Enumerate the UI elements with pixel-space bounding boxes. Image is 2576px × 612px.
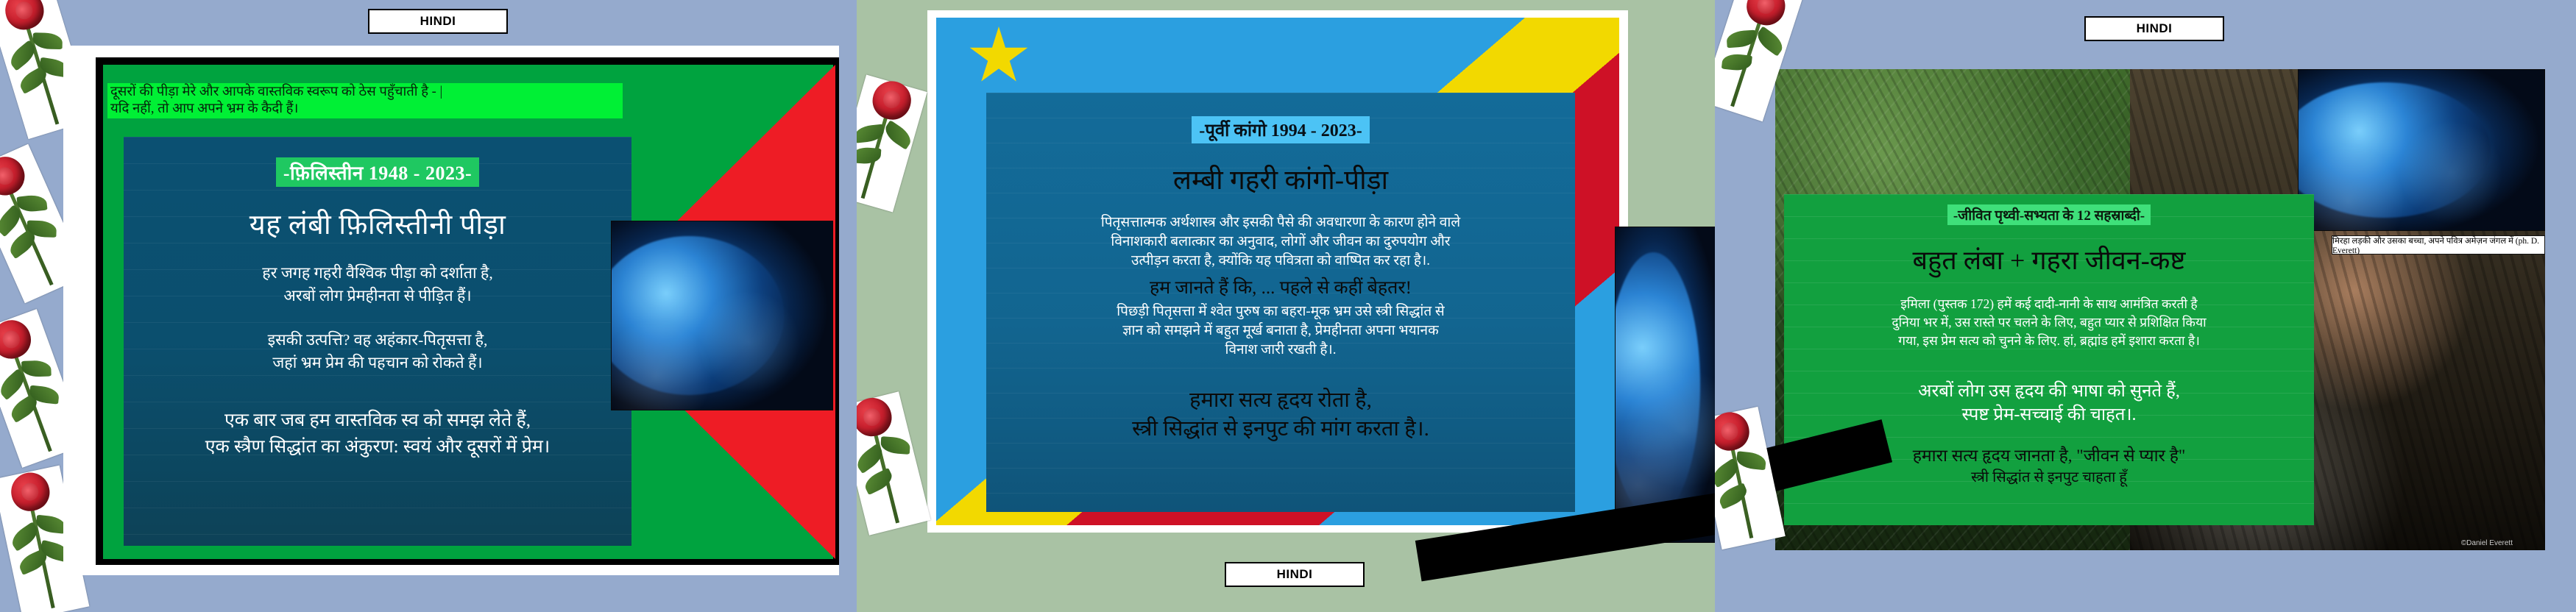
rose-leaf (35, 514, 66, 533)
palestine-top-banner-line: यदि नहीं, तो आप अपने भ्रम के कैदी हैं। (110, 101, 620, 118)
palestine-period-chip: -फ़िलिस्तीन 1948 - 2023- (276, 157, 479, 187)
congo-body2-line: पिछड़ी पितृसत्ता में श्वेत पुरुष का बहरा… (999, 302, 1562, 321)
hindi-label-center[interactable]: HINDI (1225, 562, 1365, 587)
hindi-label-right[interactable]: HINDI (2084, 16, 2224, 41)
rose-leaf (21, 360, 52, 377)
living-earth-content-card: -जीवित पृथ्वी-सभ्यता के 12 सहस्राब्दी- ब… (1784, 194, 2314, 525)
congo-final-line: स्त्री सिद्धांत से इनपुट की मांग करता है… (986, 415, 1575, 444)
palestine-final-line: एक बार जब हम वास्तविक स्व को समझ लेते है… (124, 408, 631, 434)
living-earth-heading: बहुत लंबा + गहरा जीवन-कष्ट (1784, 241, 2314, 277)
earth-from-space-photo (2298, 69, 2545, 231)
rose-decoration (857, 74, 927, 212)
congo-final: हमारा सत्य हृदय रोता है, स्त्री सिद्धांत… (986, 386, 1575, 444)
rose-leaf (1735, 452, 1766, 471)
palestine-body-2: इसकी उत्पत्ति? वह अहंकार-पितृसत्ता है, ज… (124, 329, 631, 374)
palestine-top-banner-line: दूसरों की पीड़ा मेरे और आपके वास्तविक स्… (110, 84, 620, 101)
copyright-notice: ©Daniel Everett (2461, 539, 2513, 547)
rose-leaf (880, 437, 910, 455)
living-earth-body-line: दुनिया भर में, उस रास्ते पर चलने के लिए,… (1803, 313, 2295, 332)
rose-bloom (857, 394, 896, 441)
rose-decoration (857, 391, 930, 535)
congo-content-card: -पूर्वी कांगो 1994 - 2023- लम्बी गहरी का… (986, 93, 1575, 512)
congo-body-2: पिछड़ी पितृसत्ता में श्वेत पुरुष का बहरा… (986, 302, 1575, 360)
congo-final-line: हमारा सत्य हृदय रोता है, (986, 386, 1575, 415)
living-earth-period-chip: -जीवित पृथ्वी-सभ्यता के 12 सहस्राब्दी- (1947, 204, 2151, 225)
rose-leaf (1753, 26, 1786, 57)
living-earth-final-line: स्त्री सिद्धांत से इनपुट चाहता हूँ (1784, 468, 2314, 488)
palestine-card-inner: -फ़िलिस्तीन 1948 - 2023- यह लंबी फ़िलिस्… (124, 141, 631, 461)
palestine-heading: यह लंबी फ़िलिस्तीनी पीड़ा (124, 204, 631, 243)
panel-living-earth: HINDI मिरहा लड़की और उसका बच्चा, अपने पव… (1715, 0, 2576, 612)
congo-body: पितृसत्तात्मक अर्थशास्त्र और इसकी पैसे क… (986, 213, 1575, 271)
rose-leaf (32, 32, 62, 49)
palestine-body2-line: इसकी उत्पत्ति? वह अहंकार-पितृसत्ता है, (124, 329, 631, 352)
living-earth-body-line: इमिला (पुस्तक 172) हमें कई दादी-नानी के … (1803, 295, 2295, 313)
rose-bloom (1, 0, 49, 35)
living-earth-mid-line: अरबों लोग उस हृदय की भाषा को सुनते हैं, (1784, 380, 2314, 403)
rose-bloom (0, 315, 36, 364)
palestine-body: हर जगह गहरी वैश्विक पीड़ा को दर्शाता है,… (124, 262, 631, 307)
palestine-top-banner: दूसरों की पीड़ा मेरे और आपके वास्तविक स्… (107, 83, 623, 118)
congo-heading: लम्बी गहरी कांगो-पीड़ा (986, 160, 1575, 197)
congo-mid-statement: हम जानते हैं कि, ... पहले से कहीं बेहतर! (986, 274, 1575, 299)
rose-leaf (881, 120, 914, 150)
rose-bloom (868, 76, 916, 124)
earth-from-space-photo (611, 221, 833, 410)
congo-body2-line: ज्ञान को समझने में बहुत मूर्ख बनाता है, … (999, 321, 1562, 341)
congo-period-chip: -पूर्वी कांगो 1994 - 2023- (1192, 116, 1370, 143)
palestine-content-card: -फ़िलिस्तीन 1948 - 2023- यह लंबी फ़िलिस्… (124, 137, 631, 546)
rose-leaf (1722, 52, 1752, 71)
palestine-body-line: अरबों लोग प्रेमहीनता से पीड़ित हैं। (124, 285, 631, 307)
living-earth-body: इमिला (पुस्तक 172) हमें कई दादी-नानी के … (1784, 295, 2314, 350)
palestine-body2-line: जहां भ्रम प्रेम की पहचान को रोकते हैं। (124, 352, 631, 374)
rose-bloom (7, 469, 53, 515)
congo-body-line: विनाशकारी बलात्कार का अनुवाद, लोगों और ज… (1002, 232, 1559, 252)
rose-leaf (857, 146, 881, 165)
palestine-body-line: हर जगह गहरी वैश्विक पीड़ा को दर्शाता है, (124, 262, 631, 285)
panel-palestine: HINDI दूसरों की पीड़ा मेरे और आपके वास्त… (0, 0, 857, 612)
living-earth-mid: अरबों लोग उस हृदय की भाषा को सुनते हैं, … (1784, 380, 2314, 427)
hindi-label-left[interactable]: HINDI (368, 9, 508, 34)
rose-bloom (1715, 409, 1752, 455)
palestine-final: एक बार जब हम वास्तविक स्व को समझ लेते है… (124, 408, 631, 461)
congo-body-line: पितृसत्तात्मक अर्थशास्त्र और इसकी पैसे क… (1002, 213, 1559, 232)
congo-body-line: उत्पीड़न करता है, क्योंकि यह पवित्रता को… (1002, 252, 1559, 271)
palestine-final-line: एक स्त्रैण सिद्धांत का अंकुरण: स्वयं और … (124, 434, 631, 460)
photo-caption: मिरहा लड़की और उसका बच्चा, अपने पवित्र अ… (2332, 235, 2545, 255)
rose-leaf (16, 193, 47, 213)
living-earth-body-line: गया, इस प्रेम सत्य को चुनने के लिए. हां,… (1803, 332, 2295, 350)
rose-bloom (1742, 0, 1791, 29)
congo-body2-line: विनाश जारी रखती है।. (999, 341, 1562, 360)
rose-bloom (0, 151, 31, 202)
panel-congo: -पूर्वी कांगो 1994 - 2023- लम्बी गहरी का… (857, 0, 1715, 612)
